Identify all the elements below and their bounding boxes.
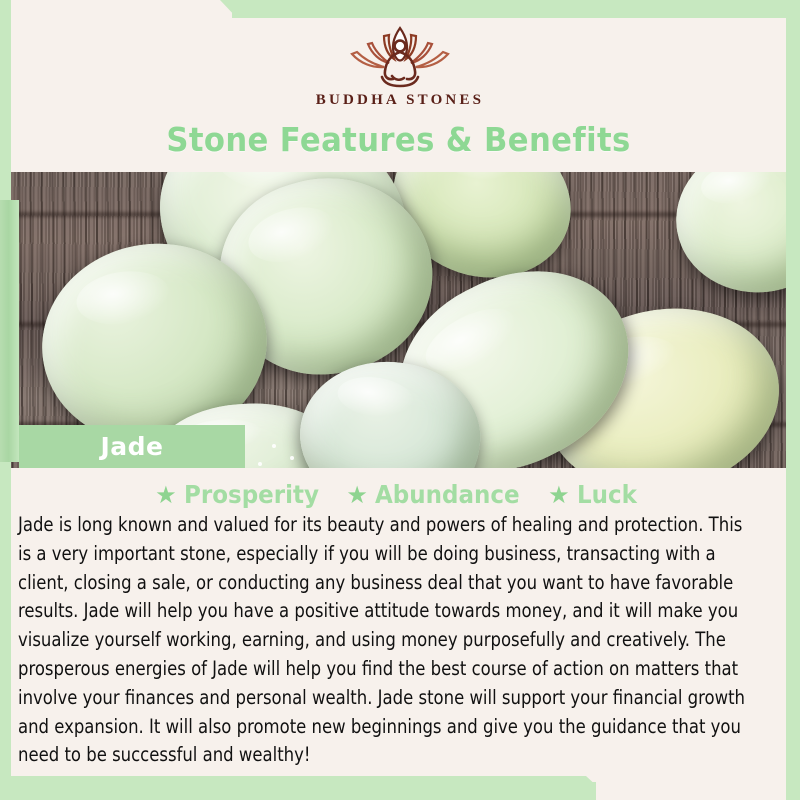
keyword-item-abundance: ★ Abundance [346,480,532,509]
stone-name-tag: Jade [19,425,245,468]
star-icon: ★ [155,483,177,507]
keyword-list: ★ Prosperity ★ Abundance ★ Luck [11,480,786,509]
sparkle [258,462,262,466]
brand-name: BUDDHA STONES [0,92,800,109]
star-icon: ★ [346,483,368,507]
keyword-item-prosperity: ★ Prosperity [155,480,330,509]
cream-corner-bottom-right [596,774,786,800]
star-icon: ★ [548,483,570,507]
sparkle [290,456,294,460]
green-accent-left-bar [0,200,19,462]
lotus-meditation-icon [340,22,460,88]
poster-canvas: BUDDHA STONES Stone Features & Benefits … [0,0,800,800]
green-accent-right-edge [786,0,800,800]
keyword-label: Luck [577,480,637,509]
sparkle [272,444,276,448]
stone-name-label: Jade [100,432,163,461]
stone-photo [0,172,800,468]
cream-corner-top-left [0,0,232,20]
stone-description: Jade is long known and valued for its be… [18,511,751,770]
keyword-label: Prosperity [184,480,319,509]
brand-logo: BUDDHA STONES [0,22,800,109]
keyword-label: Abundance [375,480,520,509]
keyword-item-luck: ★ Luck [548,480,642,509]
page-title: Stone Features & Benefits [38,120,759,159]
